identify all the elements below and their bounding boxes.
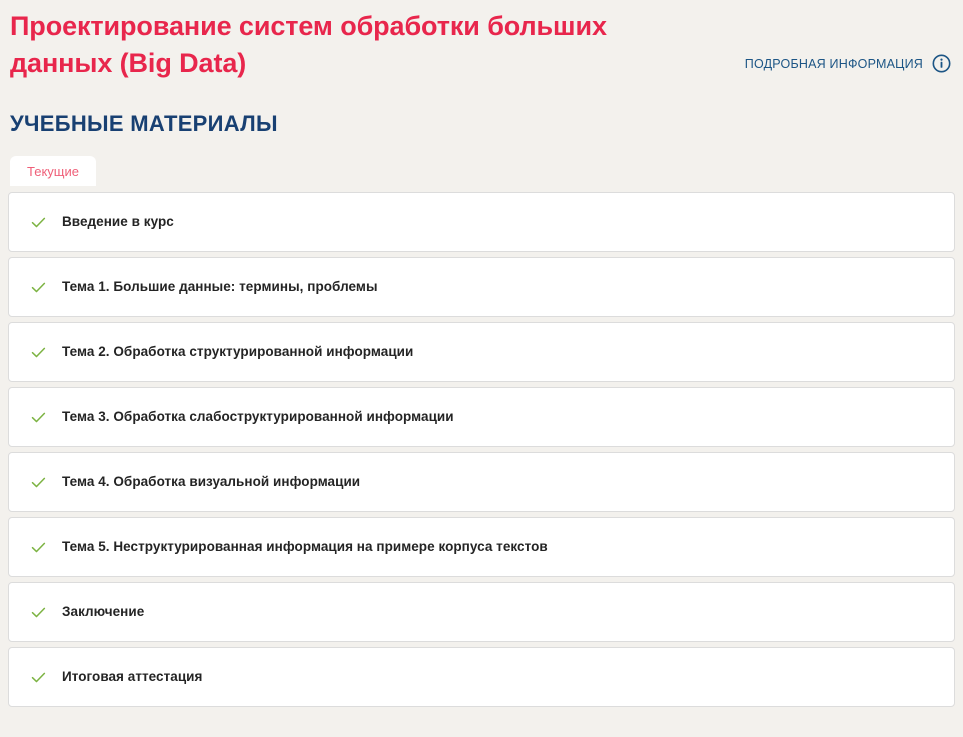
check-icon: [31, 410, 62, 425]
check-icon: [31, 670, 62, 685]
list-item-label: Тема 5. Неструктурированная информация н…: [62, 538, 548, 556]
list-item[interactable]: Итоговая аттестация: [8, 647, 955, 707]
check-icon: [31, 475, 62, 490]
check-icon: [31, 540, 62, 555]
list-item[interactable]: Тема 5. Неструктурированная информация н…: [8, 517, 955, 577]
details-link[interactable]: ПОДРОБНАЯ ИНФОРМАЦИЯ: [745, 54, 951, 73]
list-item[interactable]: Тема 2. Обработка структурированной инфо…: [8, 322, 955, 382]
list-item[interactable]: Заключение: [8, 582, 955, 642]
materials-list: Введение в курс Тема 1. Большие данные: …: [8, 192, 955, 707]
check-icon: [31, 280, 62, 295]
list-item-label: Тема 3. Обработка слабоструктурированной…: [62, 408, 454, 426]
tab-current[interactable]: Текущие: [10, 156, 96, 186]
list-item[interactable]: Введение в курс: [8, 192, 955, 252]
course-page: Проектирование систем обработки больших …: [0, 0, 963, 737]
page-title: Проектирование систем обработки больших …: [10, 8, 690, 82]
details-link-label: ПОДРОБНАЯ ИНФОРМАЦИЯ: [745, 57, 923, 71]
materials-tabs: Текущие: [10, 156, 96, 186]
check-icon: [31, 215, 62, 230]
list-item-label: Тема 1. Большие данные: термины, проблем…: [62, 278, 378, 296]
list-item-label: Тема 4. Обработка визуальной информации: [62, 473, 360, 491]
check-icon: [31, 605, 62, 620]
section-title-materials: УЧЕБНЫЕ МАТЕРИАЛЫ: [10, 110, 278, 138]
list-item-label: Введение в курс: [62, 213, 174, 231]
list-item-label: Тема 2. Обработка структурированной инфо…: [62, 343, 413, 361]
list-item[interactable]: Тема 1. Большие данные: термины, проблем…: [8, 257, 955, 317]
page-header: Проектирование систем обработки больших …: [0, 0, 963, 8]
list-item-label: Заключение: [62, 603, 144, 621]
list-item[interactable]: Тема 3. Обработка слабоструктурированной…: [8, 387, 955, 447]
info-circle-icon: [932, 54, 951, 73]
list-item-label: Итоговая аттестация: [62, 668, 202, 686]
check-icon: [31, 345, 62, 360]
list-item[interactable]: Тема 4. Обработка визуальной информации: [8, 452, 955, 512]
